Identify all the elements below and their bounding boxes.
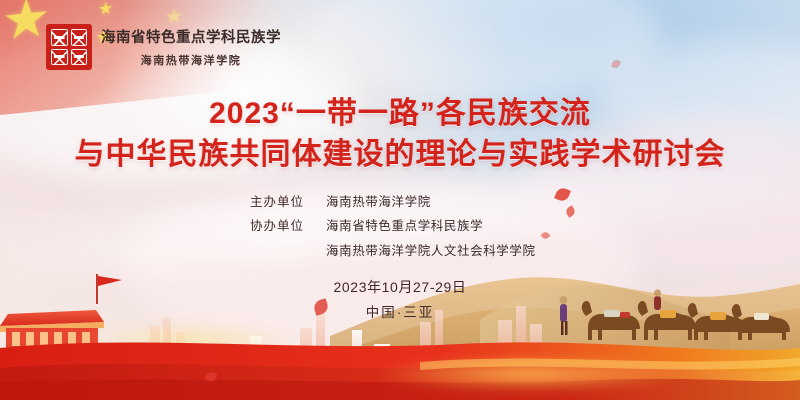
flag-star: ★: [2, 0, 50, 49]
title-line-1: 2023“一带一路”各民族交流: [0, 96, 800, 131]
logo-discipline-name: 海南省特色重点学科民族学: [101, 26, 281, 47]
organizer-row: 协办单位 海南省特色重点学科民族学: [250, 214, 550, 238]
organizer-value: 海南热带海洋学院: [326, 190, 431, 214]
organizer-value: 海南热带海洋学院人文社会科学学院: [326, 239, 536, 263]
event-location: 中国·三亚: [0, 301, 800, 326]
organizer-row: 主办单位 海南热带海洋学院: [250, 190, 550, 214]
organizer-label: 主办单位: [250, 190, 326, 214]
event-details: 2023年10月27-29日 中国·三亚: [0, 275, 800, 326]
flag-star: ★: [98, 0, 113, 18]
organizer-label: 协办单位: [250, 214, 326, 238]
title-line-2: 与中华民族共同体建设的理论与实践学术研讨会: [0, 137, 800, 172]
organizer-row: 海南热带海洋学院人文社会科学学院: [250, 239, 550, 263]
institution-logo: 海南省特色重点学科民族学 海南热带海洋学院: [46, 24, 281, 70]
conference-banner: ★ ★ ★ ★ ★ ★ ★: [0, 0, 800, 400]
light-glow: [320, 352, 740, 396]
page-title: 2023“一带一路”各民族交流 与中华民族共同体建设的理论与实践学术研讨会: [0, 96, 800, 173]
seal-stamp-icon: [46, 24, 92, 70]
logo-text-block: 海南省特色重点学科民族学 海南热带海洋学院: [101, 24, 281, 68]
event-date: 2023年10月27-29日: [0, 275, 800, 301]
logo-university-name: 海南热带海洋学院: [101, 52, 281, 68]
flower-petal-icon: [611, 59, 620, 68]
organizer-value: 海南省特色重点学科民族学: [326, 214, 483, 238]
organizers-block: 主办单位 海南热带海洋学院 协办单位 海南省特色重点学科民族学 海南热带海洋学院…: [0, 190, 800, 263]
